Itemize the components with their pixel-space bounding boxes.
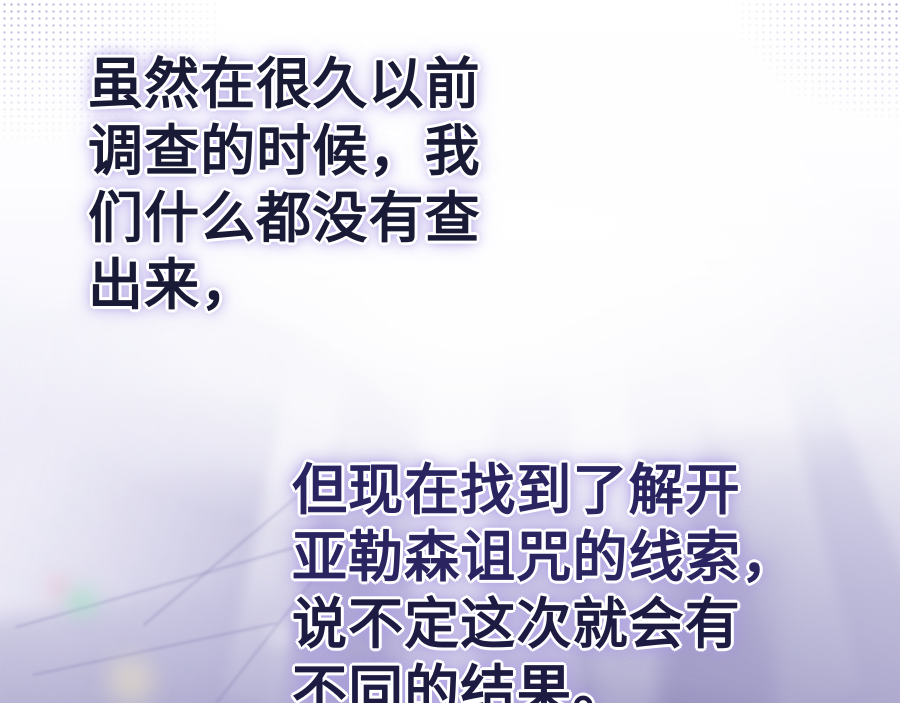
bokeh-light-white xyxy=(268,624,290,646)
structure-edge-line xyxy=(33,622,278,676)
dialogue-line: 亚勒森诅咒的线索， xyxy=(292,530,792,585)
structure-edge-line xyxy=(143,496,297,626)
wall-plane-left xyxy=(0,579,280,703)
dialogue-line: 说不定这次就会有 xyxy=(292,597,792,652)
bokeh-light-yellow xyxy=(100,650,162,703)
structure-edge-line xyxy=(16,544,305,629)
dialogue-block-upper: 虽然在很久以前 调查的时候，我 们什么都没有查 出来， xyxy=(88,57,518,325)
dialogue-line: 虽然在很久以前 xyxy=(88,57,518,112)
dialogue-line: 但现在找到了解开 xyxy=(292,463,792,518)
light-beam xyxy=(813,313,900,699)
dialogue-line: 出来， xyxy=(88,258,518,313)
bokeh-light-teal xyxy=(250,398,276,424)
dialogue-line: 调查的时候，我 xyxy=(88,124,518,179)
dialogue-line: 不同的结果。 xyxy=(292,664,792,703)
bokeh-light-pink xyxy=(44,572,74,602)
dialogue-block-lower: 但现在找到了解开 亚勒森诅咒的线索， 说不定这次就会有 不同的结果。 xyxy=(292,463,792,703)
bokeh-light-green xyxy=(62,582,102,622)
comic-panel: 虽然在很久以前 调查的时候，我 们什么都没有查 出来， 但现在找到了解开 亚勒森… xyxy=(0,0,900,703)
dialogue-line: 们什么都没有查 xyxy=(88,191,518,246)
halftone-texture-top-right xyxy=(676,0,900,174)
